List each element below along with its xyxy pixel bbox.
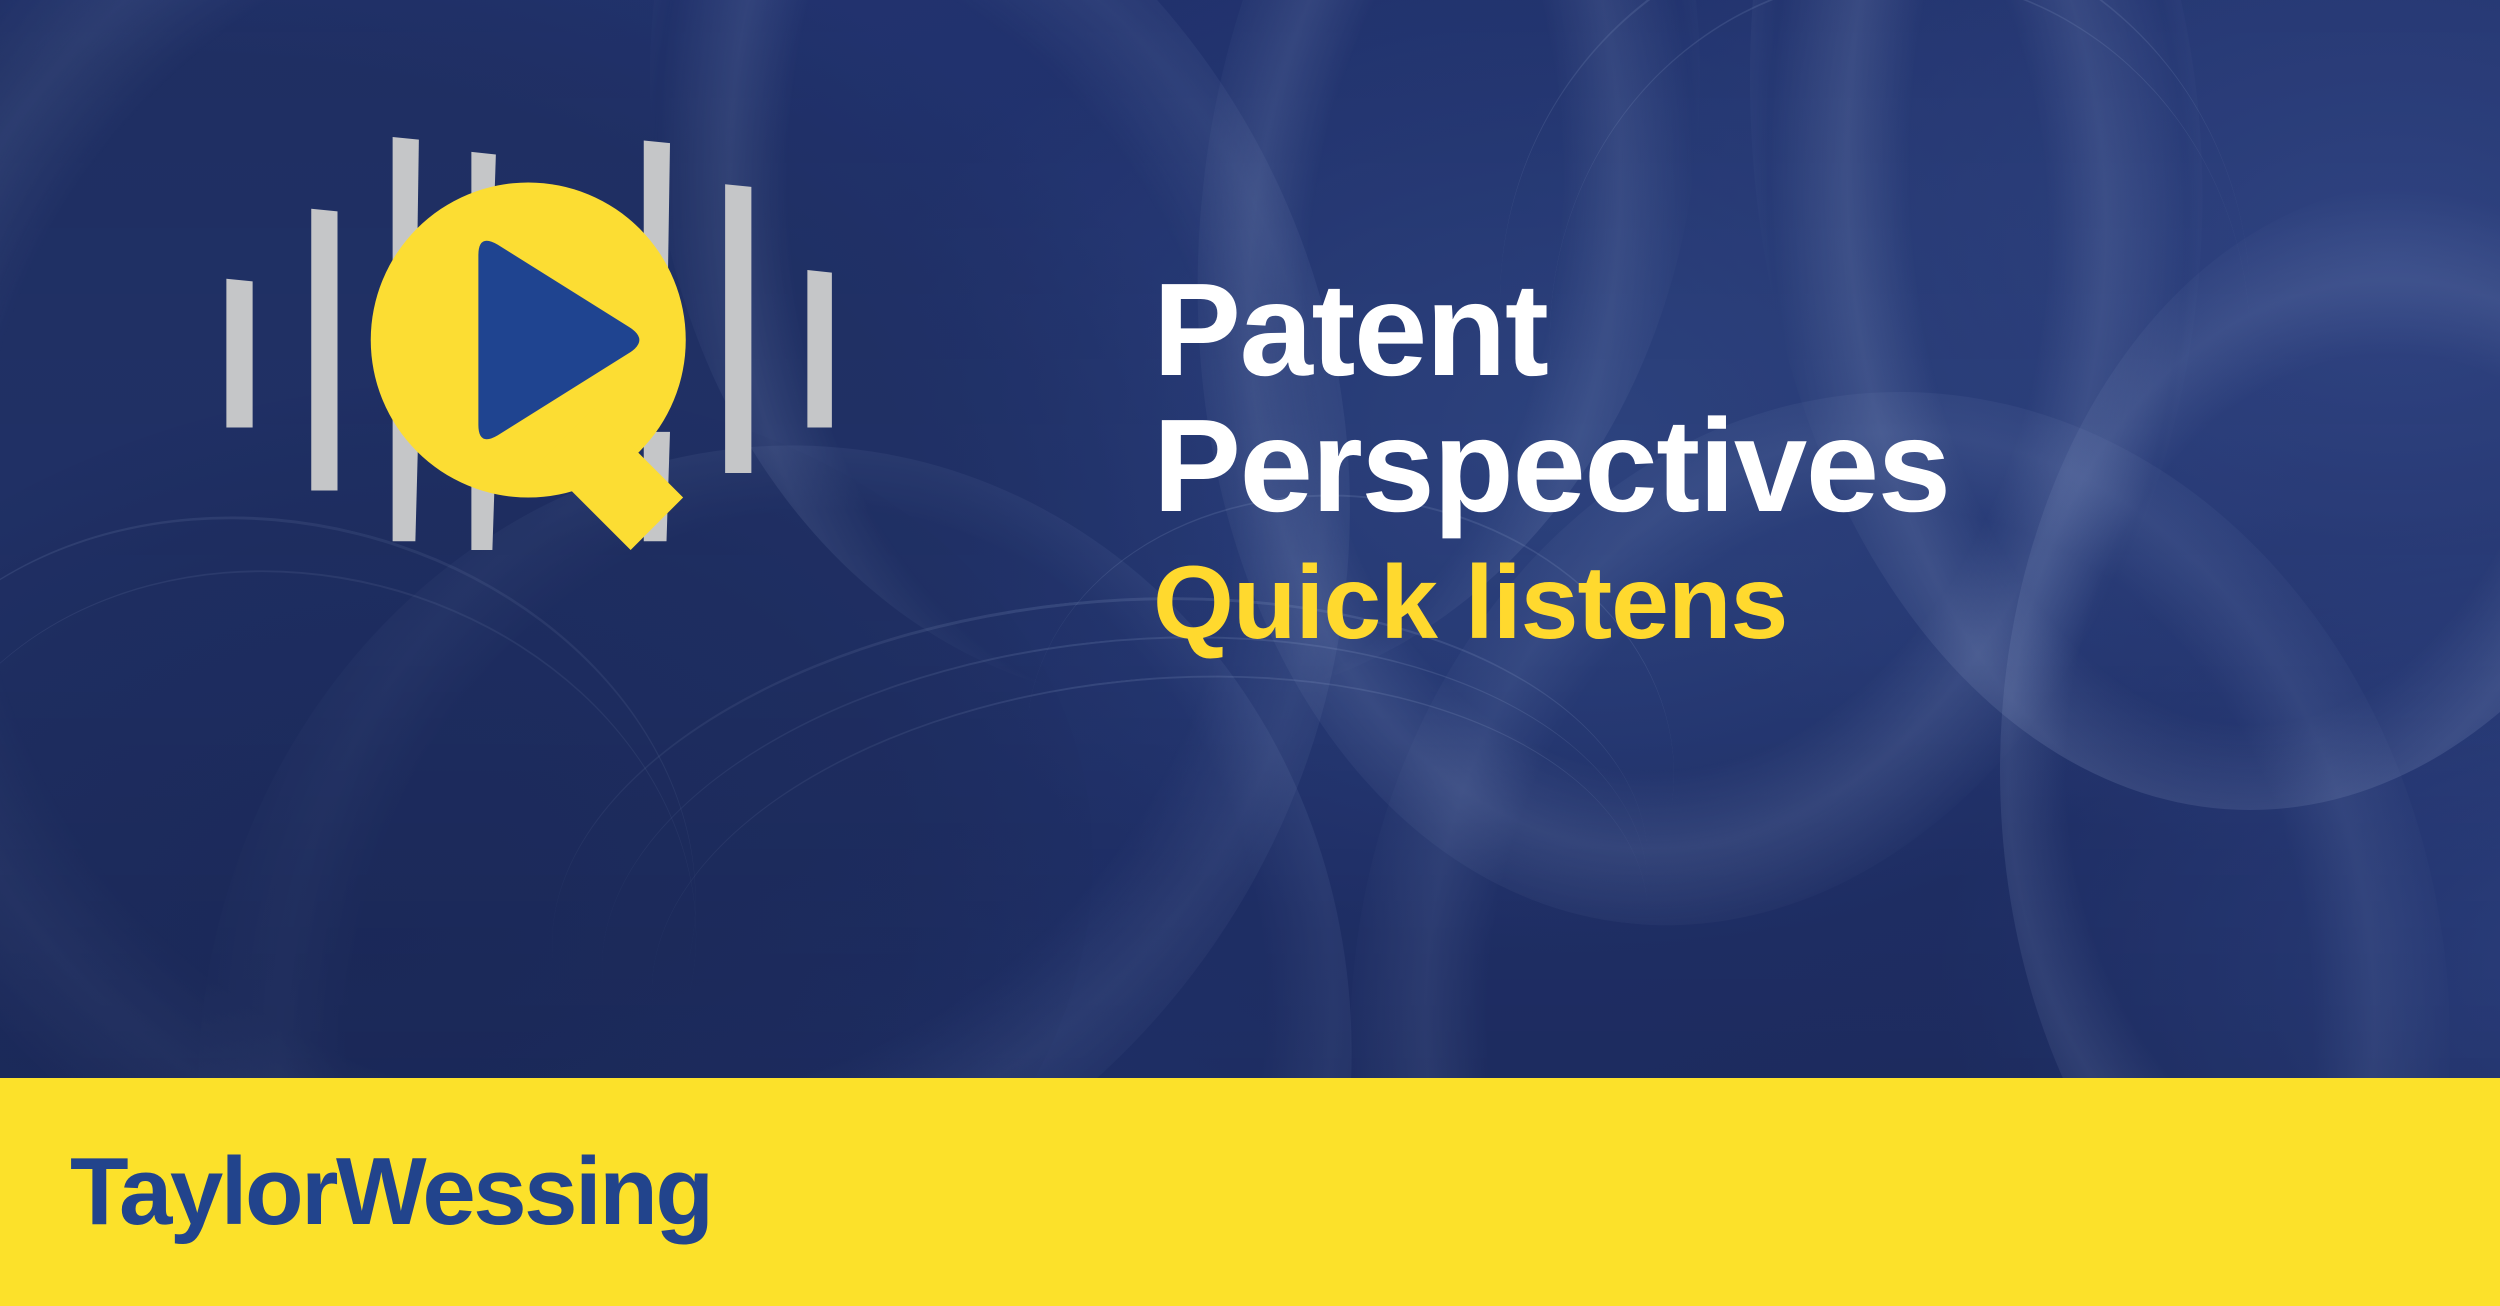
title-block: Patent Perspectives Quick listens [1153,262,2453,658]
title-line-2: Perspectives [1153,398,2453,534]
subtitle: Quick listens [1153,548,2453,658]
brand-bar: TaylorWessing [0,1078,2500,1306]
podcast-banner: Patent Perspectives Quick listens Taylor… [0,0,2500,1306]
taylorwessing-wordmark: TaylorWessing [70,1144,711,1240]
title-line-1: Patent [1153,262,2453,398]
quick-listens-play-logo [195,130,865,550]
